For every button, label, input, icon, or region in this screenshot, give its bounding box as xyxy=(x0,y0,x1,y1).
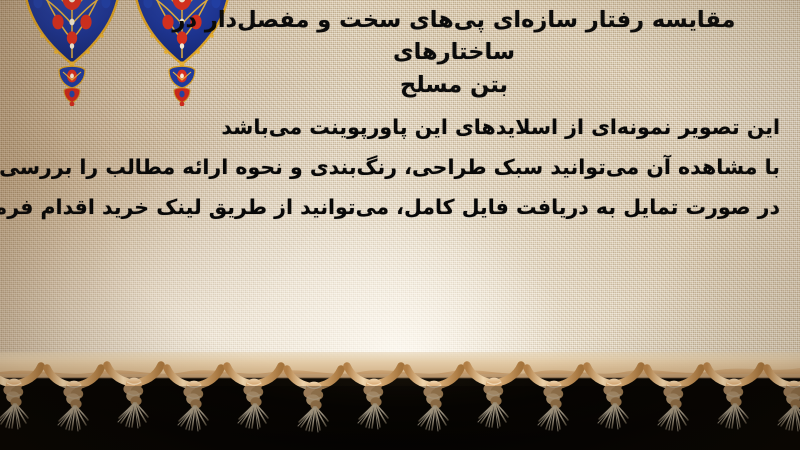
body-line-1: این تصویر نمونه‌ای از اسلایدهای این پاور… xyxy=(18,108,780,148)
slide-body-text: این تصویر نمونه‌ای از اسلایدهای این پاور… xyxy=(18,108,780,227)
slide-title-line-2: بتن مسلح xyxy=(124,69,784,101)
carpet-fringe-zone xyxy=(0,352,800,450)
body-line-3: در صورت تمایل به دریافت فایل کامل، می‌تو… xyxy=(18,188,780,228)
carpet-fringe-tassels xyxy=(0,352,800,450)
persian-illumination-ornament-left xyxy=(18,0,126,106)
slide-canvas: مقایسه رفتار سازه‌ای پی‌های سخت و مفصل‌د… xyxy=(0,0,800,450)
slide-title: مقایسه رفتار سازه‌ای پی‌های سخت و مفصل‌د… xyxy=(124,4,784,101)
body-line-2: با مشاهده آن می‌توانید سبک طراحی، رنگ‌بن… xyxy=(18,148,780,188)
slide-title-line-1: مقایسه رفتار سازه‌ای پی‌های سخت و مفصل‌د… xyxy=(124,4,784,69)
